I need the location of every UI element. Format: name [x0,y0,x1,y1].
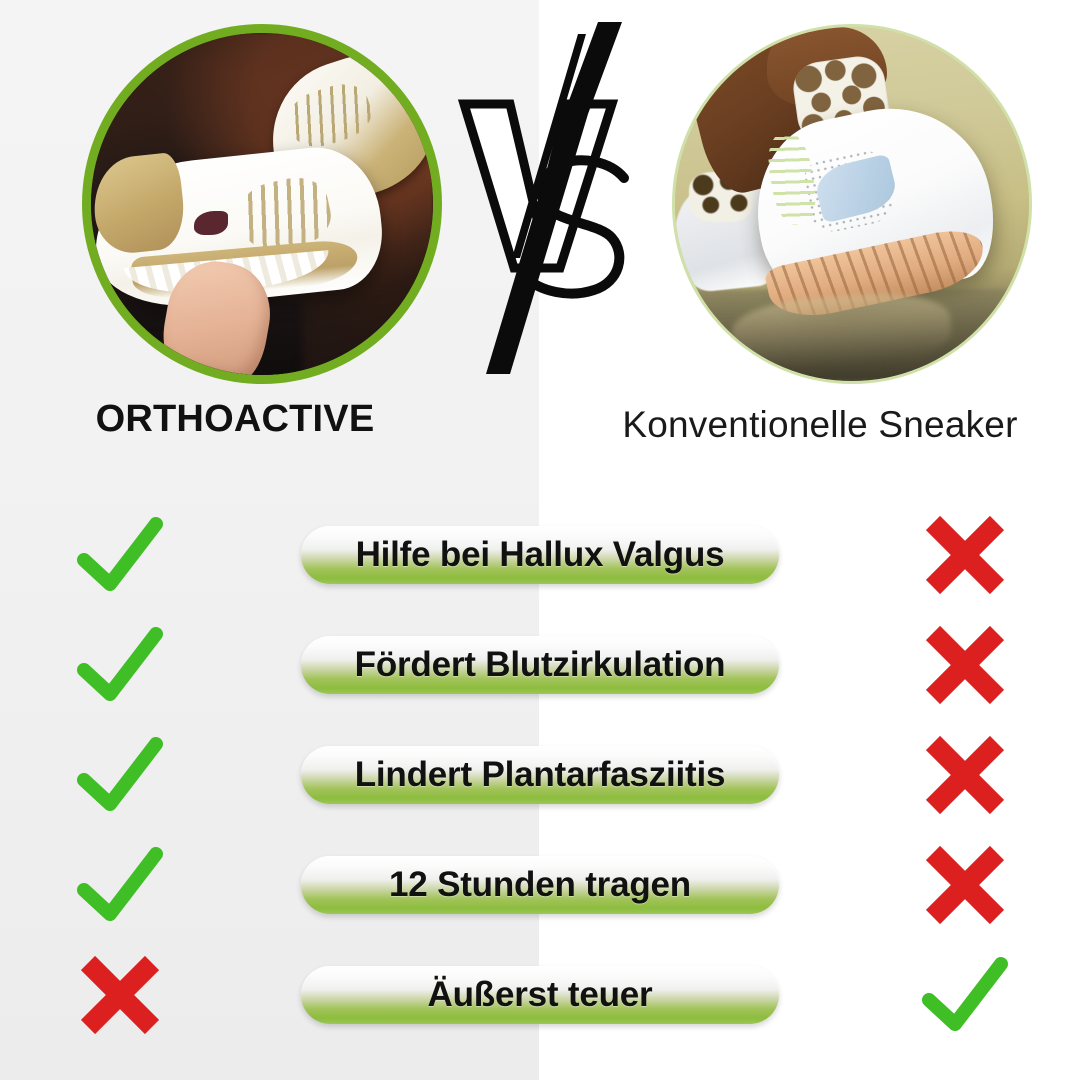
row-5-left-mark [0,940,300,1050]
row-4-left-mark [0,830,300,940]
check-icon [74,624,166,706]
row-3-right-mark [780,720,1080,830]
row-2-right-mark [780,610,1080,720]
cross-icon [923,623,1007,707]
feature-pill: Fördert Blutzirkulation [301,636,779,694]
product-photo-conventional [672,24,1032,384]
table-row: Hilfe bei Hallux Valgus [0,500,1080,610]
cross-icon [923,733,1007,817]
feature-pill: Lindert Plantarfasziitis [301,746,779,804]
table-row: Fördert Blutzirkulation [0,610,1080,720]
check-icon [74,844,166,926]
feature-label: Lindert Plantarfasziitis [355,755,726,795]
cross-icon [923,513,1007,597]
comparison-table: Hilfe bei Hallux Valgus Fördert Blutzirk… [0,500,1080,1050]
brand-label-conventional: Konventionelle Sneaker [570,404,1070,446]
row-3-left-mark [0,720,300,830]
product-photo-orthoactive [82,24,442,384]
row-1-right-mark [780,500,1080,610]
table-row: Lindert Plantarfasziitis [0,720,1080,830]
row-5-feature-cell: Äußerst teuer [300,966,780,1024]
brand-label-orthoactive: ORTHOACTIVE [0,398,470,441]
check-icon [919,954,1011,1036]
hero-section: ORTHOACTIVE Konventionelle Sneaker [0,0,1080,470]
feature-label: 12 Stunden tragen [389,865,691,905]
feature-label: Äußerst teuer [428,975,653,1015]
check-icon [74,734,166,816]
cross-icon [78,953,162,1037]
row-4-right-mark [780,830,1080,940]
cross-icon [923,843,1007,927]
row-2-feature-cell: Fördert Blutzirkulation [300,636,780,694]
feature-pill: Hilfe bei Hallux Valgus [301,526,779,584]
table-row: 12 Stunden tragen [0,830,1080,940]
versus-logo-icon [452,18,652,388]
row-3-feature-cell: Lindert Plantarfasziitis [300,746,780,804]
row-1-feature-cell: Hilfe bei Hallux Valgus [300,526,780,584]
feature-label: Hilfe bei Hallux Valgus [356,535,725,575]
row-2-left-mark [0,610,300,720]
row-5-right-mark [780,940,1080,1050]
table-row: Äußerst teuer [0,940,1080,1050]
row-1-left-mark [0,500,300,610]
check-icon [74,514,166,596]
feature-pill: 12 Stunden tragen [301,856,779,914]
feature-pill: Äußerst teuer [301,966,779,1024]
row-4-feature-cell: 12 Stunden tragen [300,856,780,914]
right-photo-canvas [675,27,1029,381]
feature-label: Fördert Blutzirkulation [355,645,726,685]
left-photo-canvas [91,33,433,375]
